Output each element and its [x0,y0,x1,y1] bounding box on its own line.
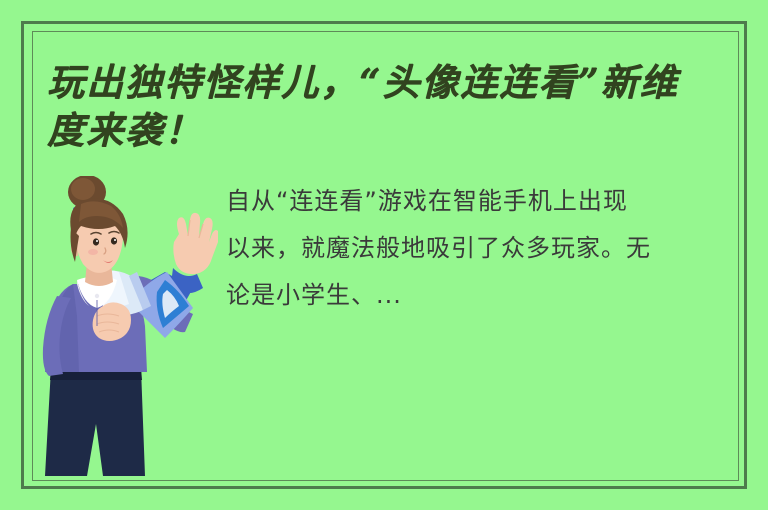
raised-hand-shape [173,213,218,274]
page-title: 玩出独特怪样儿，“头像连连看”新维 度来袭！ [47,58,733,154]
body-line-3: 论是小学生、... [226,272,734,319]
title-line-1: 玩出独特怪样儿，“头像连连看”新维 [47,58,733,106]
article-excerpt: 自从“连连看”游戏在智能手机上出现 以来，就魔法般地吸引了众多玩家。无 论是小学… [226,178,734,319]
poster-card: 玩出独特怪样儿，“头像连连看”新维 度来袭！ 自从“连连看”游戏在智能手机上出现… [0,0,768,510]
body-line-1: 自从“连连看”游戏在智能手机上出现 [226,178,734,225]
body-line-2: 以来，就魔法般地吸引了众多玩家。无 [226,225,734,272]
illustration-woman-with-megaphone [33,176,218,481]
title-line-2: 度来袭！ [47,106,733,154]
skirt-shape [45,368,145,476]
